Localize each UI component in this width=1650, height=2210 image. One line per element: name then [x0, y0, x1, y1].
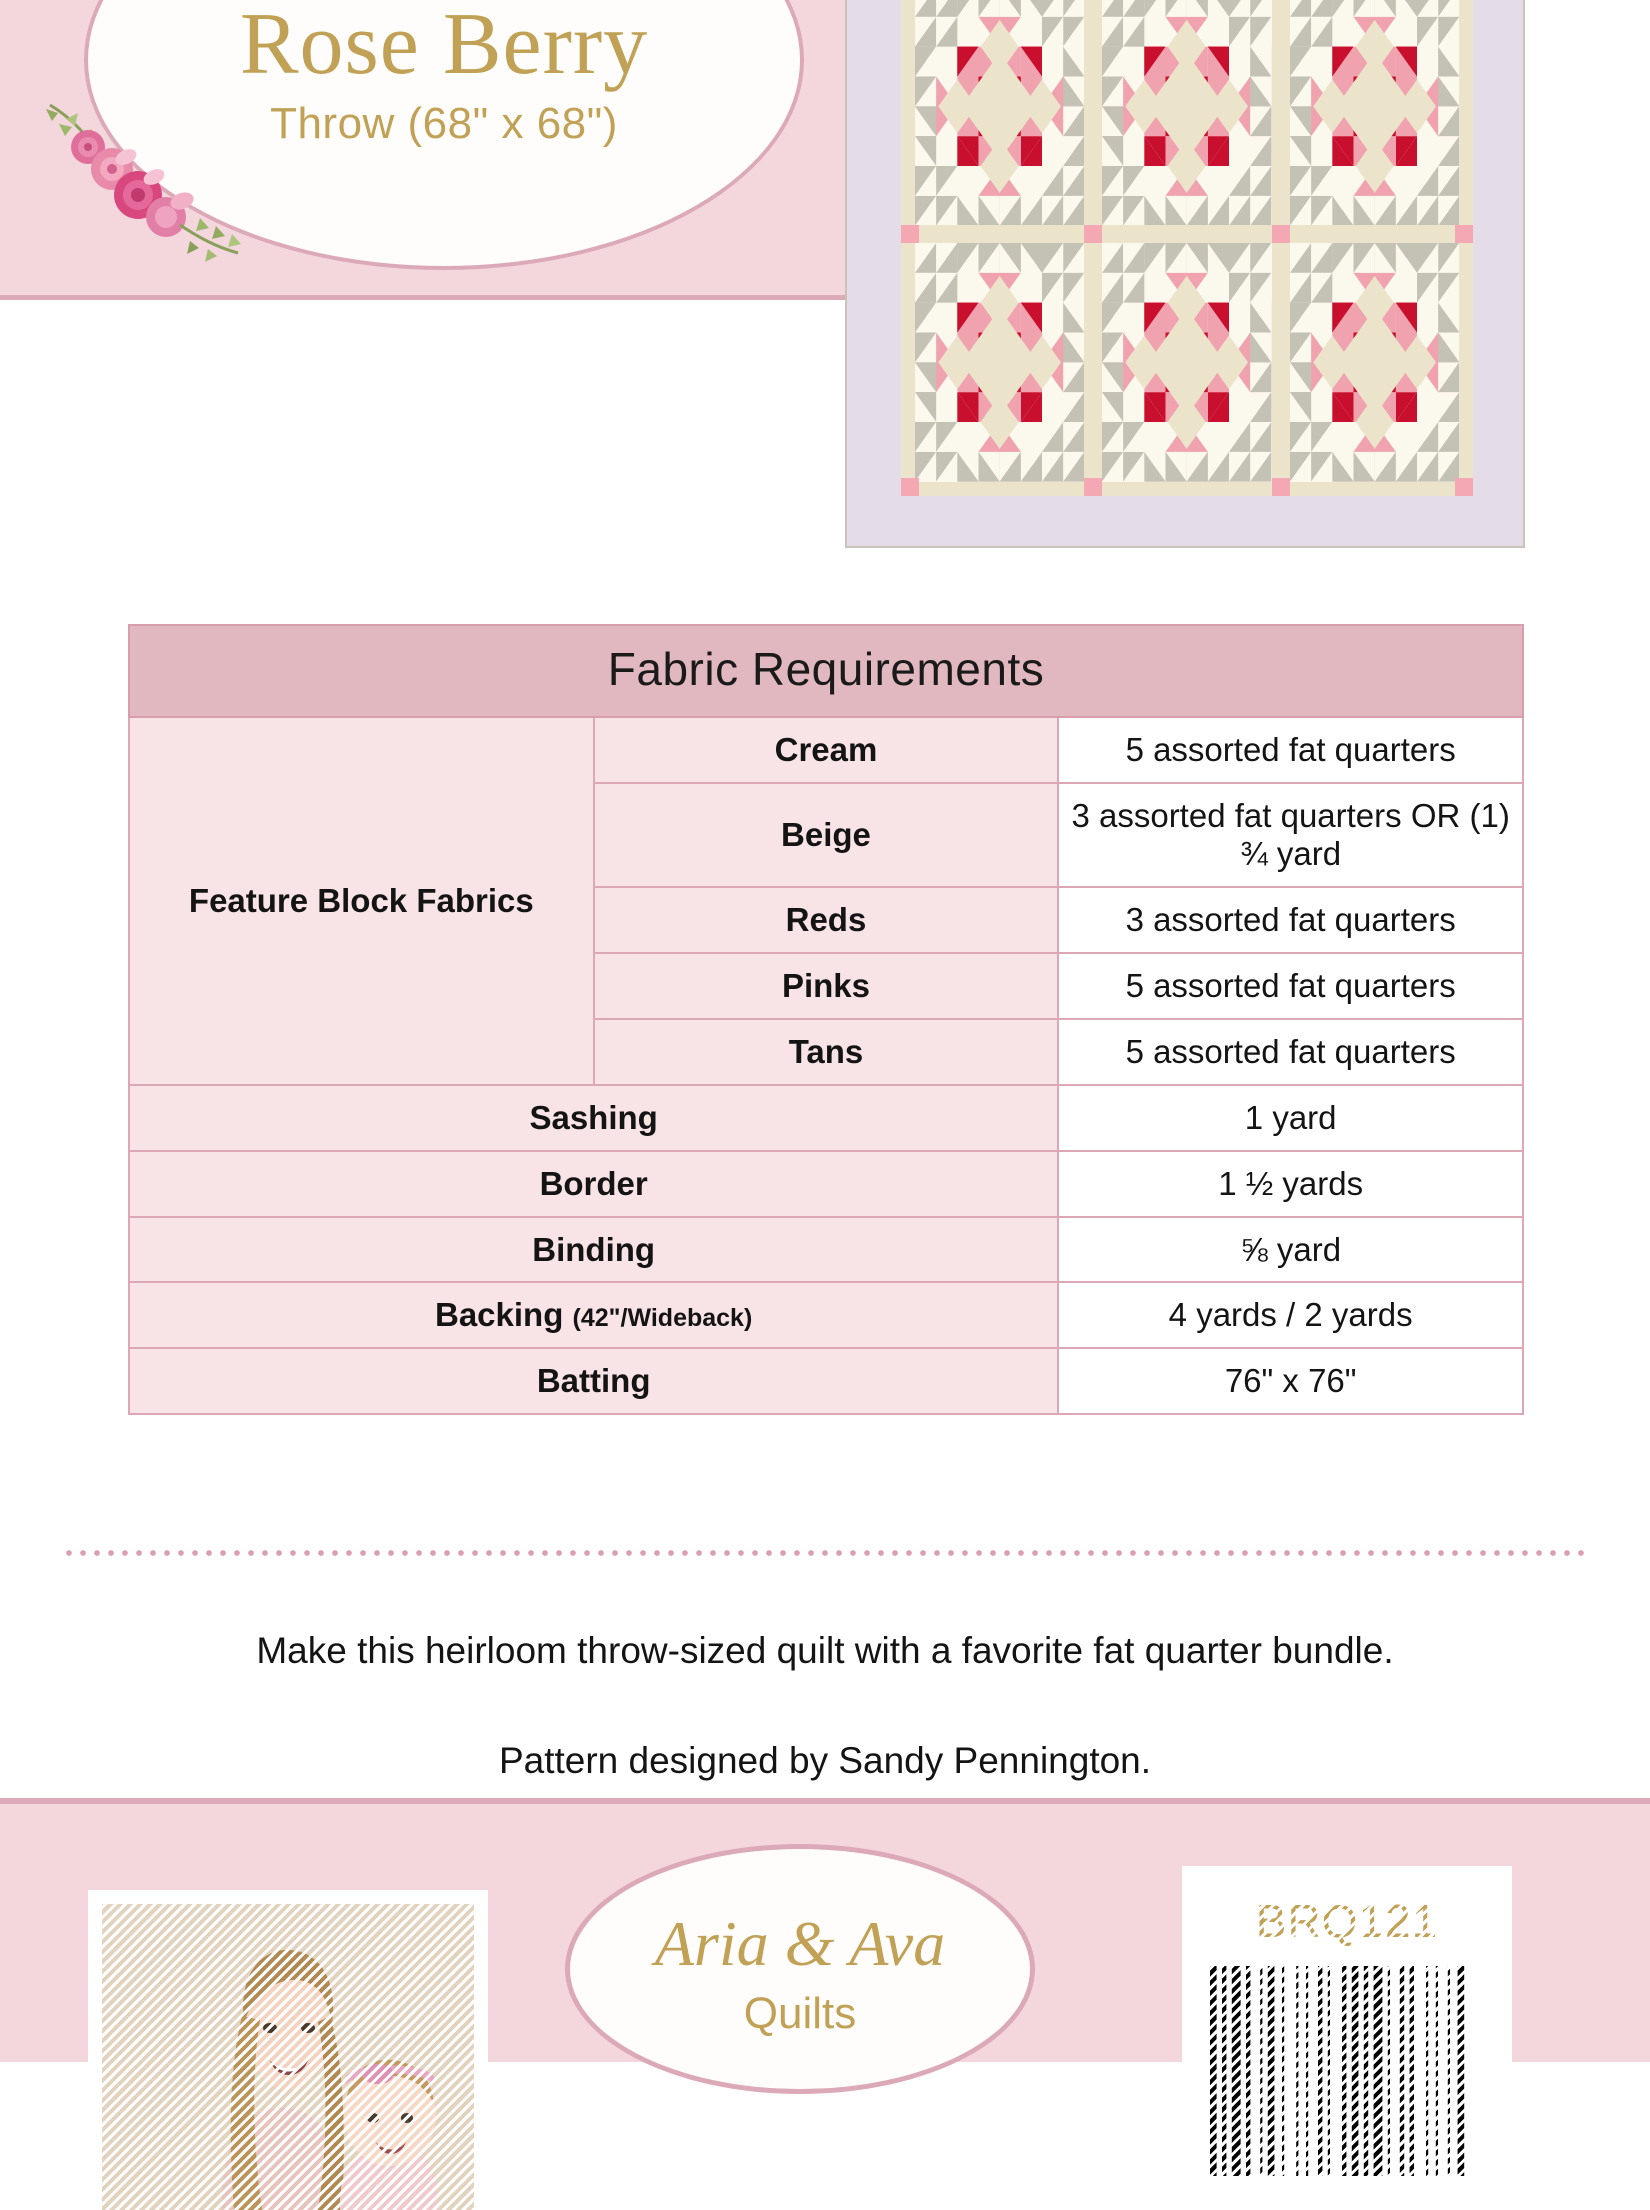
sku-code: BRQ121 — [1182, 1894, 1512, 1948]
fabric-label-cell: Backing (42"/Wideback) — [129, 1282, 1058, 1348]
table-row: Feature Block Fabrics Cream 5 assorted f… — [129, 717, 1523, 783]
page-subtitle: Throw (68" x 68") — [88, 99, 800, 149]
fabric-value: ⅝ yard — [1058, 1217, 1523, 1283]
fabric-label-cell: Sashing — [129, 1085, 1058, 1151]
quilt-cornerstone — [1455, 478, 1473, 496]
quilt-cornerstone — [901, 478, 919, 496]
quilt-cornerstone — [1455, 225, 1473, 243]
table-row: Batting 76" x 76" — [129, 1348, 1523, 1414]
quilt-cornerstone — [1084, 225, 1102, 243]
fabric-label-cell: Binding — [129, 1217, 1058, 1283]
fabric-table-title: Fabric Requirements — [129, 625, 1523, 717]
quilt-cornerstone — [1084, 478, 1102, 496]
photo-illustration — [102, 1904, 474, 2210]
fabric-value: 1 yard — [1058, 1085, 1523, 1151]
quilt-cornerstone — [1272, 478, 1290, 496]
feature-block-group-label: Feature Block Fabrics — [129, 717, 594, 1085]
fabric-label: Sashing — [529, 1099, 657, 1136]
fabric-value: 5 assorted fat quarters — [1058, 1019, 1523, 1085]
quilt-center — [901, 0, 1473, 496]
fabric-value: 1 ½ yards — [1058, 1151, 1523, 1217]
photo-inner — [102, 1904, 474, 2210]
designer-credit: Pattern designed by Sandy Pennington. — [0, 1740, 1650, 1782]
fabric-value: 3 assorted fat quarters — [1058, 887, 1523, 953]
fabric-value: 76" x 76" — [1058, 1348, 1523, 1414]
fabric-label-cell: Batting — [129, 1348, 1058, 1414]
fabric-label: Binding — [532, 1231, 655, 1268]
page-title: Rose Berry — [88, 0, 800, 95]
title-oval: Rose Berry Throw (68" x 68") — [84, 0, 804, 270]
quilt-block — [1102, 243, 1271, 482]
quilt-block — [1102, 0, 1271, 225]
quilt-layout-image — [845, 0, 1525, 548]
top-banner: Rose Berry Throw (68" x 68") — [0, 0, 858, 300]
fabric-label: Batting — [537, 1362, 651, 1399]
table-row: Binding ⅝ yard — [129, 1217, 1523, 1283]
fabric-requirements-section: Fabric Requirements Feature Block Fabric… — [128, 624, 1524, 1415]
quilt-cornerstone — [1272, 225, 1290, 243]
fabric-label: Tans — [594, 1019, 1059, 1085]
quilt-block — [1290, 243, 1459, 482]
fabric-value: 4 yards / 2 yards — [1058, 1282, 1523, 1348]
two-girls-photo — [88, 1890, 488, 2210]
quilt-block — [1290, 0, 1459, 225]
table-row: Sashing 1 yard — [129, 1085, 1523, 1151]
fabric-label-cell: Border — [129, 1151, 1058, 1217]
fabric-requirements-table: Fabric Requirements Feature Block Fabric… — [128, 624, 1524, 1415]
fabric-table-body: Feature Block Fabrics Cream 5 assorted f… — [129, 717, 1523, 1414]
fabric-label: Border — [540, 1165, 648, 1202]
fabric-label: Backing — [435, 1296, 563, 1333]
quilt-block — [915, 243, 1084, 482]
fabric-value: 5 assorted fat quarters — [1058, 717, 1523, 783]
fabric-label: Pinks — [594, 953, 1059, 1019]
fabric-value: 3 assorted fat quarters OR (1) ¾ yard — [1058, 783, 1523, 887]
quilt-cornerstone — [901, 225, 919, 243]
quilt-block-grid — [901, 0, 1473, 496]
barcode-bars — [1210, 1966, 1484, 2176]
brand-name: Aria & Ava — [570, 1907, 1030, 1981]
brand-subtitle: Quilts — [570, 1989, 1030, 2039]
description-text: Make this heirloom throw-sized quilt wit… — [0, 1630, 1650, 1672]
fabric-label: Cream — [594, 717, 1059, 783]
footer-banner: Aria & Ava Quilts BRQ121 — [0, 1798, 1650, 2062]
barcode-icon: BRQ121 — [1182, 1866, 1512, 2196]
fabric-label: Reds — [594, 887, 1059, 953]
fabric-value: 5 assorted fat quarters — [1058, 953, 1523, 1019]
table-row: Backing (42"/Wideback) 4 yards / 2 yards — [129, 1282, 1523, 1348]
fabric-label: Beige — [594, 783, 1059, 887]
fabric-label-note: (42"/Wideback) — [573, 1304, 753, 1332]
table-row: Border 1 ½ yards — [129, 1151, 1523, 1217]
quilt-block — [915, 0, 1084, 225]
dotted-divider — [62, 1548, 1590, 1558]
brand-logo: Aria & Ava Quilts — [565, 1844, 1035, 2094]
